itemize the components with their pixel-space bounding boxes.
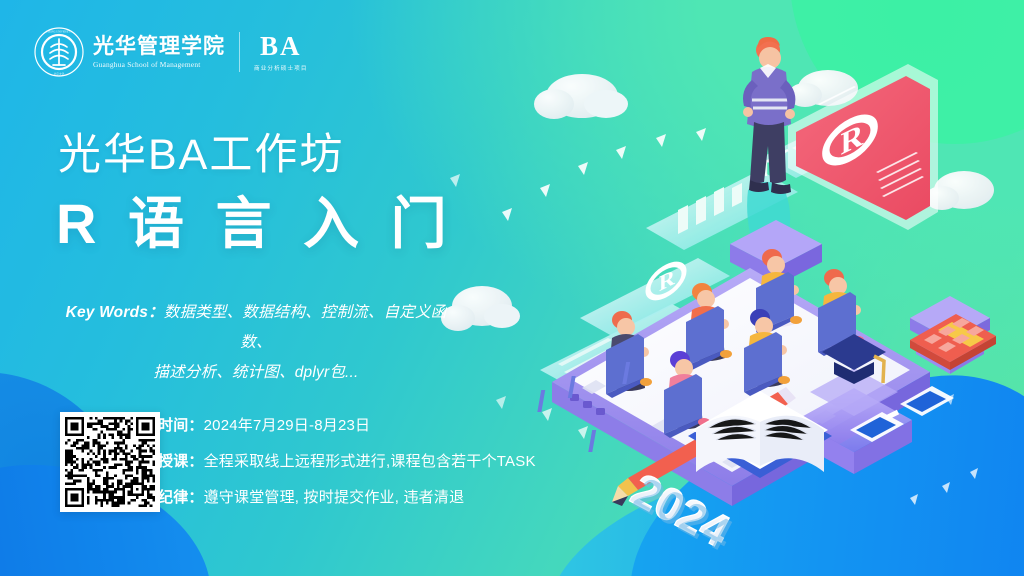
info-row: 时间：2024年7月29日-8月23日 xyxy=(158,418,536,433)
info-label: 授课： xyxy=(158,453,204,470)
info-value: 2024年7月29日-8月23日 xyxy=(204,417,371,434)
guanghua-seal-icon: PEKING UNIVERSITY 北京大学 xyxy=(34,27,84,77)
brand-header: PEKING UNIVERSITY 北京大学 光华管理学院 Guanghua S… xyxy=(34,26,308,78)
program-sub-cn: 商业分析硕士项目 xyxy=(254,64,308,72)
info-value: 全程采取线上远程形式进行,课程包含若干个TASK xyxy=(204,453,536,470)
workshop-title: R 语 言 入 门 xyxy=(56,196,455,252)
info-value: 遵守课堂管理, 按时提交作业, 违者清退 xyxy=(204,489,465,506)
keywords-line-1: 数据类型、数据结构、控制流、自定义函数、 xyxy=(164,304,447,351)
qr-canvas xyxy=(65,417,155,507)
info-label: 纪律： xyxy=(158,489,204,506)
program-abbr: BA xyxy=(260,33,302,60)
keywords-block: Key Words：数据类型、数据结构、控制流、自定义函数、 描述分析、统计图、… xyxy=(56,298,456,389)
keywords-line-2: 描述分析、统计图、dplyr包... xyxy=(153,364,358,381)
cloud-icon xyxy=(534,74,628,119)
svg-text:PEKING UNIVERSITY: PEKING UNIVERSITY xyxy=(46,31,72,34)
logo-divider xyxy=(239,32,240,72)
info-row: 授课：全程采取线上远程形式进行,课程包含若干个TASK xyxy=(158,454,536,469)
info-row: 纪律：遵守课堂管理, 按时提交作业, 违者清退 xyxy=(158,490,536,505)
info-block: 时间：2024年7月29日-8月23日 授课：全程采取线上远程形式进行,课程包含… xyxy=(158,418,536,505)
poster-canvas: R xyxy=(0,0,1024,576)
info-label: 时间： xyxy=(158,417,204,434)
school-name-en: Guanghua School of Management xyxy=(93,60,225,69)
svg-text:北京大学: 北京大学 xyxy=(54,72,65,76)
school-name-cn: 光华管理学院 xyxy=(93,35,225,57)
keywords-label: Key Words： xyxy=(66,304,164,321)
registration-qr-code[interactable] xyxy=(60,412,160,512)
workshop-subtitle: 光华BA工作坊 xyxy=(58,134,344,177)
